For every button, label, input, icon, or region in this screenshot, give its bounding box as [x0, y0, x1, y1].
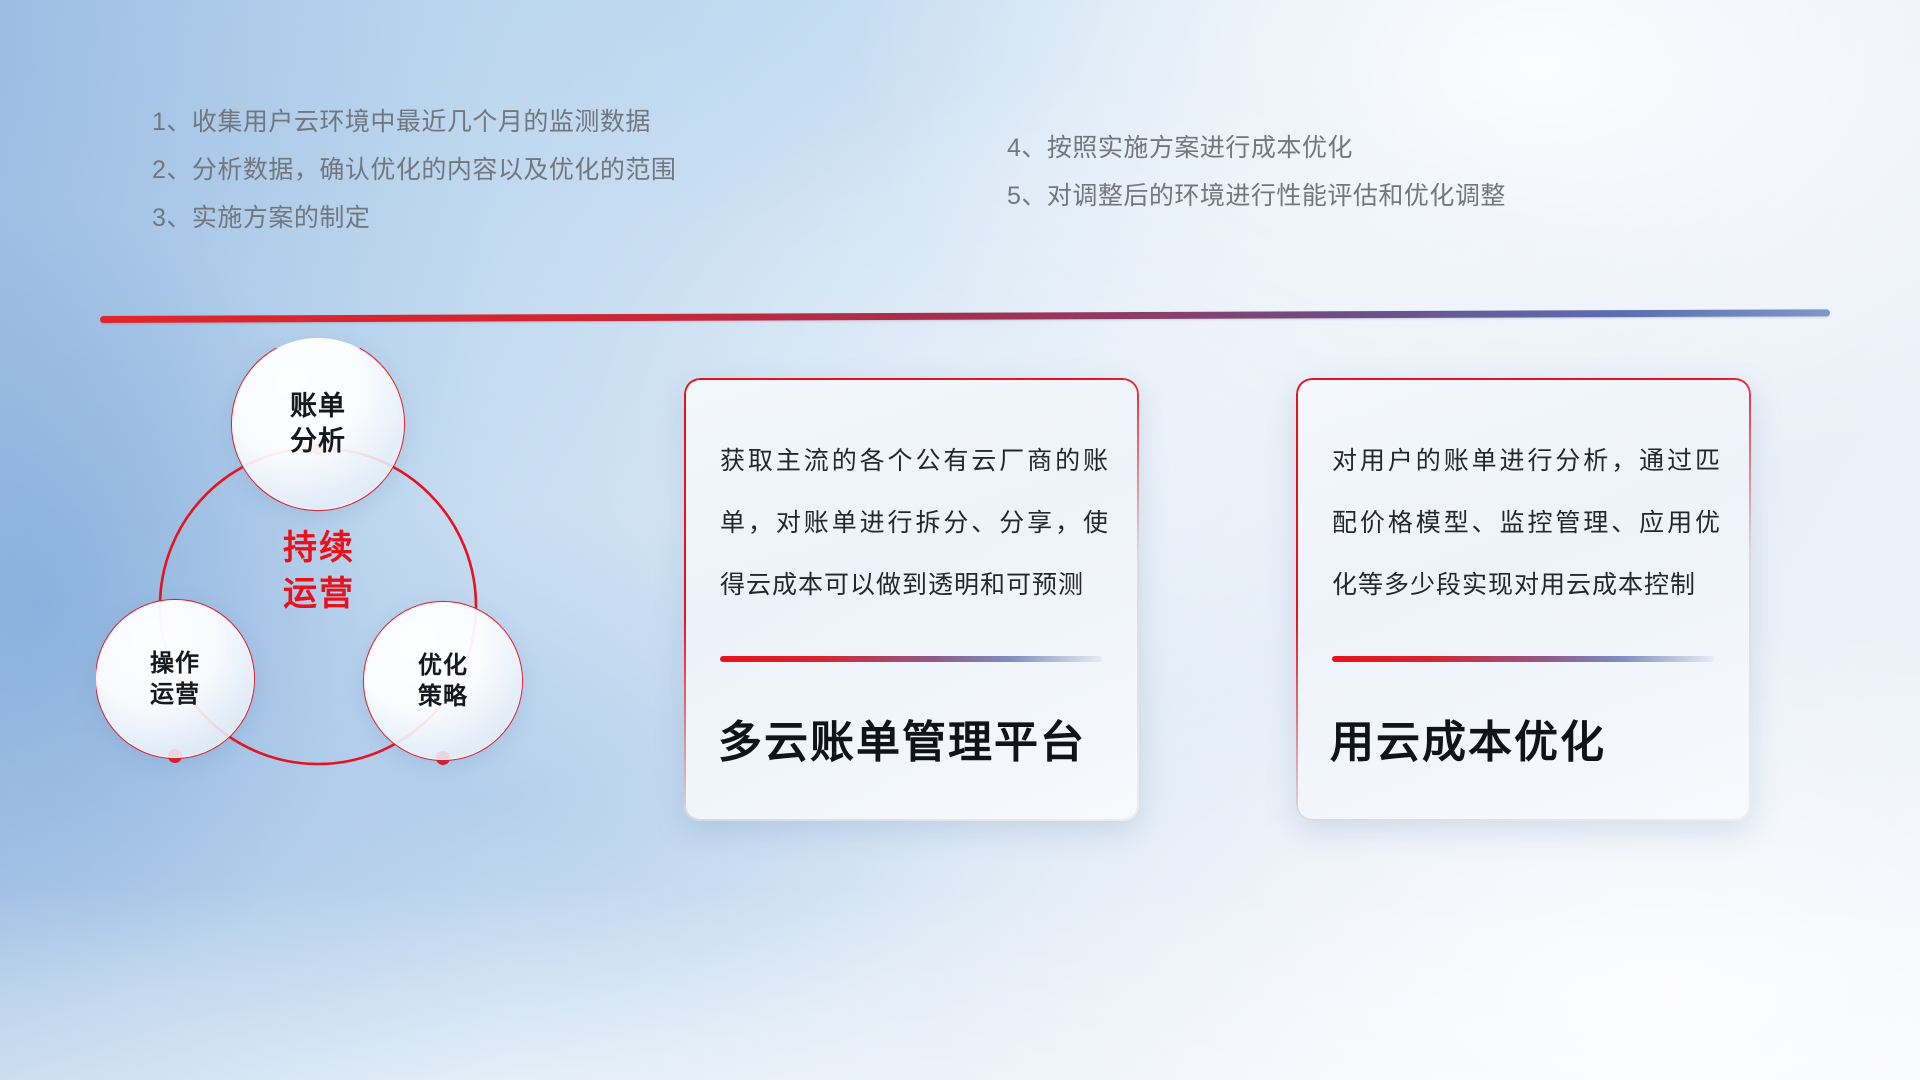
- step-item-3: 3、实施方案的制定: [152, 194, 676, 242]
- step-item-5: 5、对调整后的环境进行性能评估和优化调整: [1007, 172, 1506, 220]
- center-label-line1: 持续: [283, 529, 355, 567]
- card-accent-rule: [720, 656, 1102, 662]
- step-item-1: 1、收集用户云环境中最近几个月的监测数据: [152, 98, 676, 146]
- card-body-text: 获取主流的各个公有云厂商的账单，对账单进行拆分、分享，使得云成本可以做到透明和可…: [720, 430, 1109, 616]
- bubble-label-line2: 分析: [290, 426, 346, 456]
- bubble-bill-analysis-label: 账单 分析: [290, 389, 346, 459]
- card-title: 用云成本优化: [1330, 706, 1731, 770]
- bubble-operations: 操作 运营: [96, 600, 254, 758]
- card-accent-rule: [1332, 656, 1714, 662]
- bubble-operations-label: 操作 运营: [150, 648, 200, 710]
- card-multicloud-billing[interactable]: 获取主流的各个公有云厂商的账单，对账单进行拆分、分享，使得云成本可以做到透明和可…: [684, 378, 1139, 821]
- bubble-bill-analysis: 账单 分析: [232, 338, 404, 510]
- continuous-operation-diagram: 账单 分析 操作 运营 优化 策略 持续 运营: [96, 348, 656, 948]
- step-item-2: 2、分析数据，确认优化的内容以及优化的范围: [152, 146, 676, 194]
- card-body-text: 对用户的账单进行分析，通过匹配价格模型、监控管理、应用优化等多少段实现对用云成本…: [1332, 430, 1721, 616]
- card-cloud-cost-optimization[interactable]: 对用户的账单进行分析，通过匹配价格模型、监控管理、应用优化等多少段实现对用云成本…: [1296, 378, 1751, 821]
- step-item-4: 4、按照实施方案进行成本优化: [1007, 124, 1506, 172]
- bubble-label-line1: 账单: [290, 391, 346, 421]
- steps-list-left: 1、收集用户云环境中最近几个月的监测数据 2、分析数据，确认优化的内容以及优化的…: [152, 98, 676, 242]
- bubble-label-line1: 操作: [150, 650, 200, 677]
- steps-list-right: 4、按照实施方案进行成本优化 5、对调整后的环境进行性能评估和优化调整: [1007, 124, 1506, 220]
- card-title: 多云账单管理平台: [718, 706, 1119, 770]
- center-label-line2: 运营: [283, 575, 355, 613]
- bubble-optimization-strategy-label: 优化 策略: [418, 650, 468, 712]
- bubble-label-line1: 优化: [418, 652, 468, 679]
- bubble-label-line2: 运营: [150, 681, 200, 708]
- bubble-label-line2: 策略: [418, 683, 468, 710]
- bubble-optimization-strategy: 优化 策略: [364, 602, 522, 760]
- diagram-center-label: 持续 运营: [224, 526, 414, 617]
- section-divider: [100, 309, 1830, 323]
